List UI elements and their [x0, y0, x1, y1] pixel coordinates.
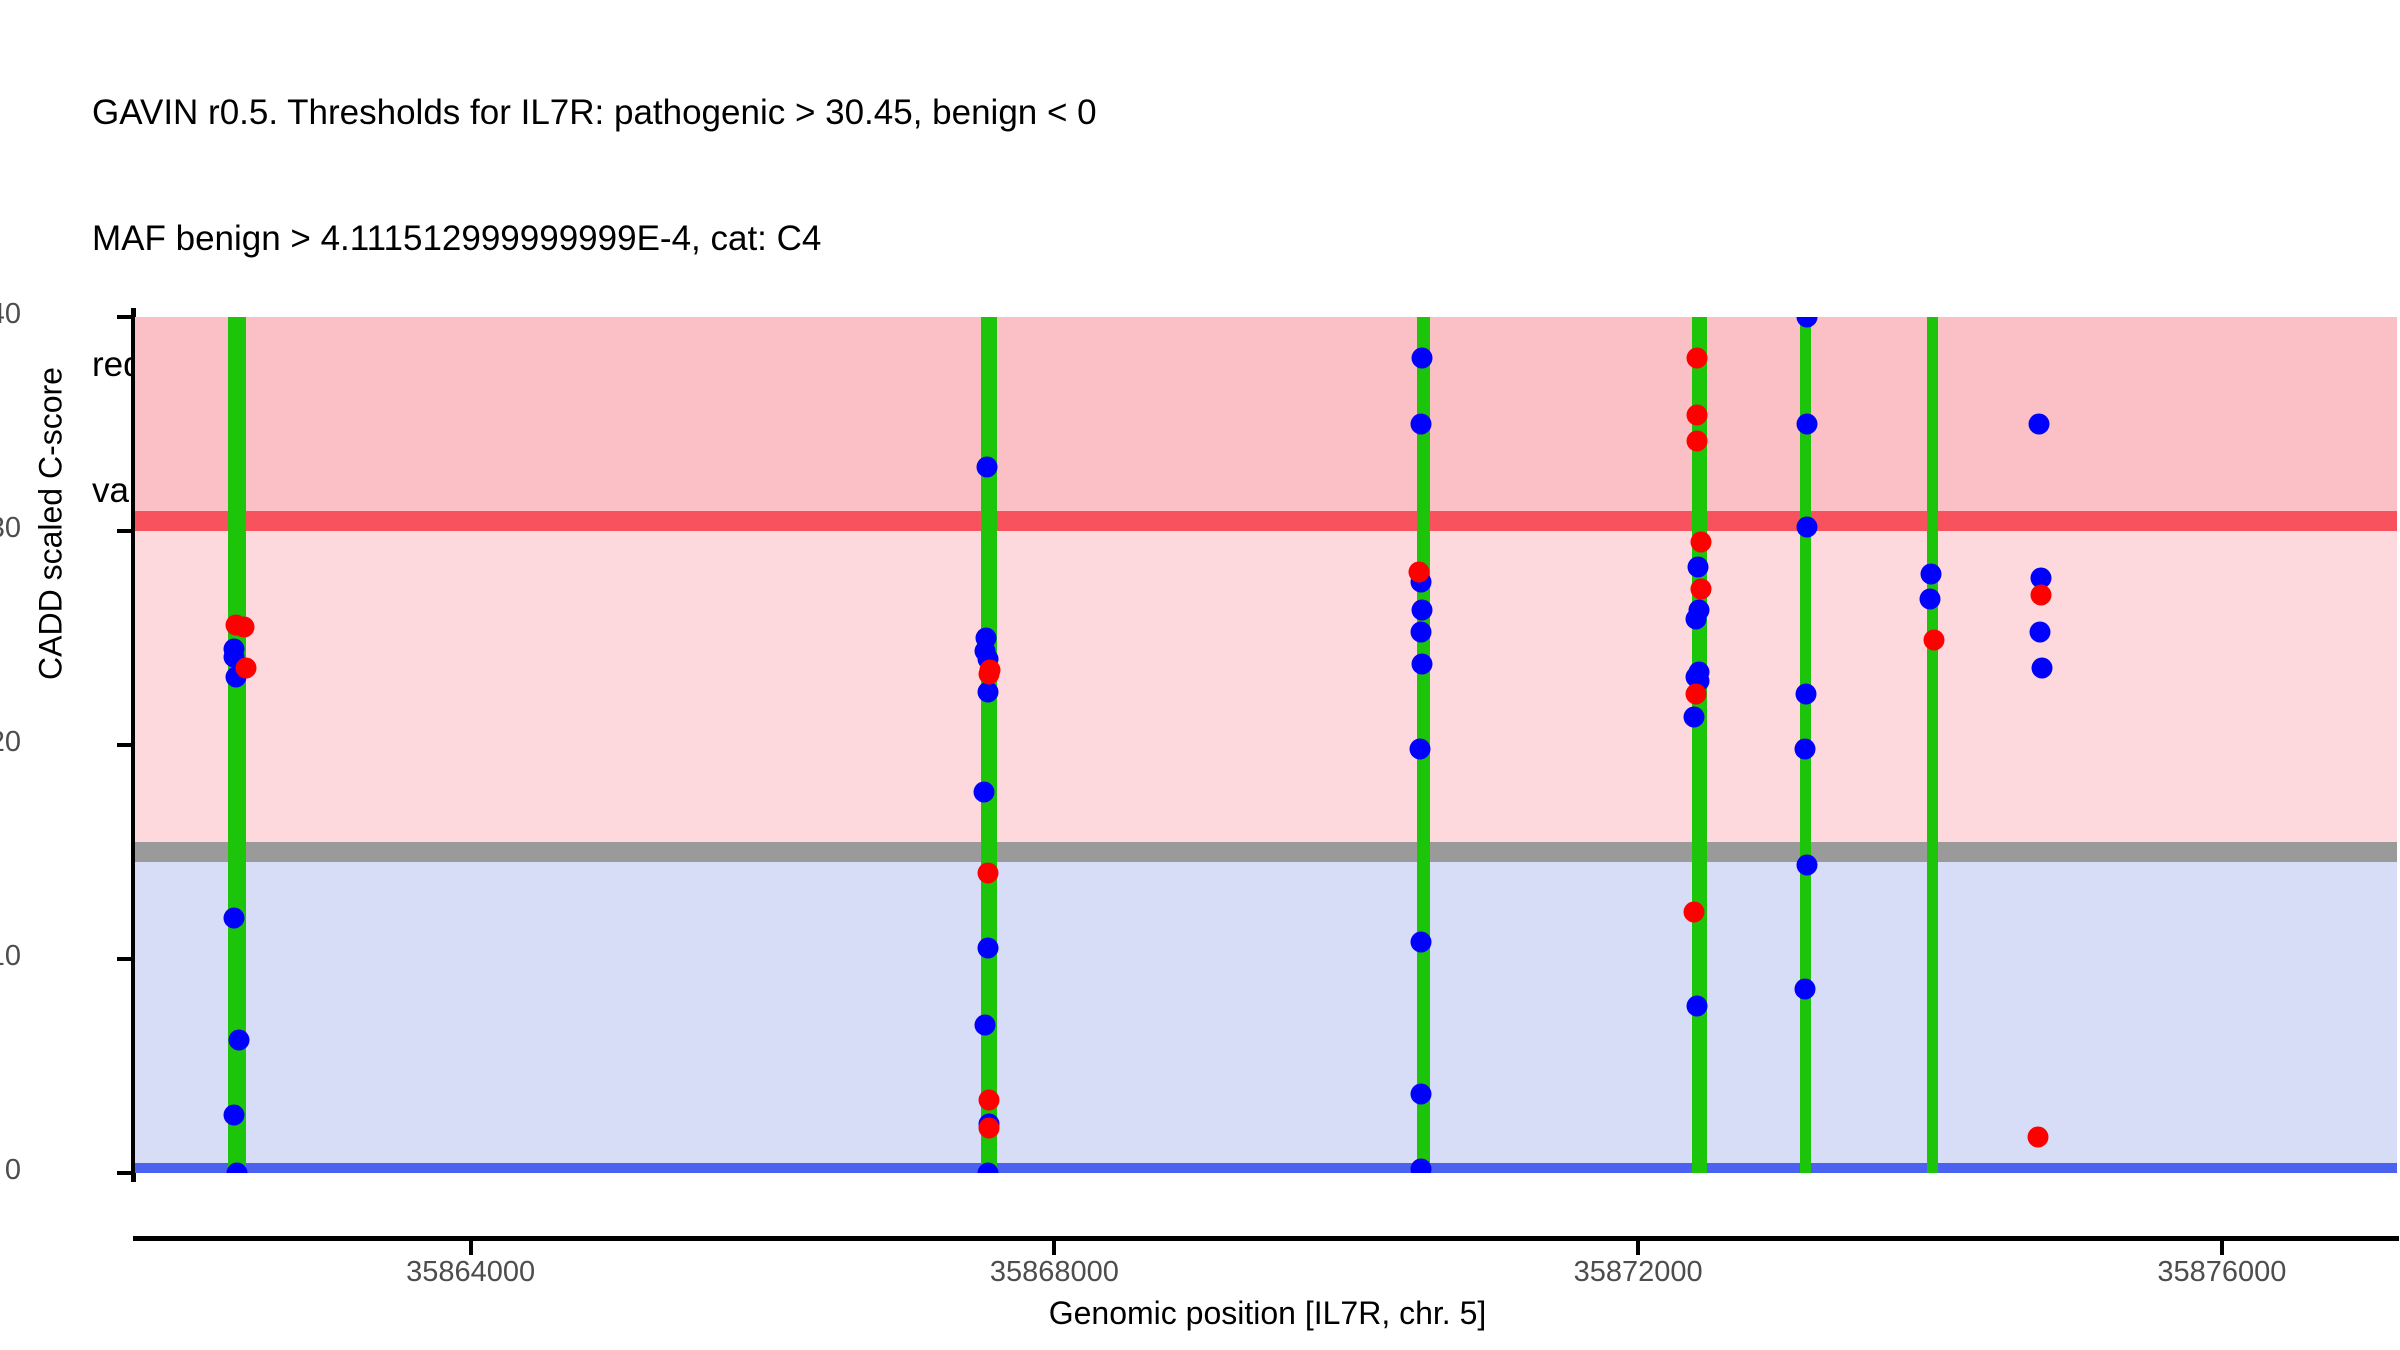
fallback-threshold-line: [135, 842, 2397, 862]
data-point: [977, 456, 998, 477]
y-tick: [117, 529, 131, 533]
data-point: [1409, 561, 1430, 582]
y-tick-label: 20: [0, 726, 21, 759]
data-point: [1410, 621, 1431, 642]
data-point: [224, 1105, 245, 1126]
data-point: [1921, 563, 1942, 584]
data-point: [1920, 589, 1941, 610]
x-axis-title: Genomic position [IL7R, chr. 5]: [135, 1295, 2400, 1332]
data-point: [228, 1030, 249, 1051]
data-point: [979, 664, 1000, 685]
data-point: [975, 1015, 996, 1036]
data-point: [1686, 405, 1707, 426]
y-tick: [117, 957, 131, 961]
x-tick: [2220, 1241, 2224, 1255]
x-tick-label: 35876000: [2157, 1256, 2286, 1289]
data-point: [1796, 516, 1817, 537]
y-tick-label: 10: [0, 940, 21, 973]
pathogenic-region: [135, 317, 2397, 521]
data-point: [2031, 657, 2052, 678]
plot-panel: [135, 317, 2397, 1173]
y-tick-label: 0: [5, 1154, 21, 1187]
data-point: [1410, 931, 1431, 952]
x-axis-line: [133, 1236, 2399, 1241]
data-point: [224, 908, 245, 929]
data-point: [1409, 739, 1430, 760]
data-point: [235, 657, 256, 678]
title-line-1: GAVIN r0.5. Thresholds for IL7R: pathoge…: [92, 92, 1206, 134]
data-point: [978, 1118, 999, 1139]
data-point: [1795, 739, 1816, 760]
data-point: [1690, 531, 1711, 552]
data-point: [1412, 653, 1433, 674]
data-point: [2030, 585, 2051, 606]
x-tick: [469, 1241, 473, 1255]
x-tick: [1636, 1241, 1640, 1255]
x-tick-label: 35864000: [406, 1256, 535, 1289]
benign-threshold-line: [135, 1163, 2397, 1173]
y-tick: [117, 1171, 131, 1175]
data-point: [1687, 557, 1708, 578]
data-point: [977, 863, 998, 884]
exon-bar: [1927, 317, 1938, 1173]
data-point: [1796, 854, 1817, 875]
y-tick-label: 30: [0, 512, 21, 545]
data-point: [1924, 630, 1945, 651]
data-point: [1686, 996, 1707, 1017]
data-point: [1412, 600, 1433, 621]
y-axis-title: CADD scaled C-score: [33, 94, 70, 954]
data-point: [1683, 901, 1704, 922]
y-tick: [117, 315, 131, 319]
chart-root: GAVIN r0.5. Thresholds for IL7R: pathoge…: [0, 0, 2400, 1350]
x-tick-label: 35868000: [990, 1256, 1119, 1289]
data-point: [1684, 707, 1705, 728]
data-point: [1795, 683, 1816, 704]
data-point: [2030, 621, 2051, 642]
data-point: [2027, 1126, 2048, 1147]
benign-region: [135, 852, 2397, 1173]
data-point: [1794, 978, 1815, 999]
data-point: [1686, 431, 1707, 452]
exon-bar: [981, 317, 997, 1173]
data-point: [979, 1090, 1000, 1111]
data-point: [1685, 608, 1706, 629]
title-line-2: MAF benign > 4.111512999999999E-4, cat: …: [92, 218, 1206, 260]
data-point: [1690, 578, 1711, 599]
data-point: [1410, 1083, 1431, 1104]
x-tick-label: 35872000: [1574, 1256, 1703, 1289]
data-point: [1412, 347, 1433, 368]
data-point: [977, 938, 998, 959]
y-tick: [117, 743, 131, 747]
data-point: [2029, 414, 2050, 435]
data-point: [974, 782, 995, 803]
data-point: [1411, 1158, 1432, 1173]
y-tick-label: 40: [0, 298, 21, 331]
data-point: [1411, 414, 1432, 435]
data-point: [234, 617, 255, 638]
data-point: [1796, 414, 1817, 435]
data-point: [1685, 683, 1706, 704]
x-tick: [1052, 1241, 1056, 1255]
pathogenic-threshold-line: [135, 511, 2397, 531]
data-point: [1686, 347, 1707, 368]
